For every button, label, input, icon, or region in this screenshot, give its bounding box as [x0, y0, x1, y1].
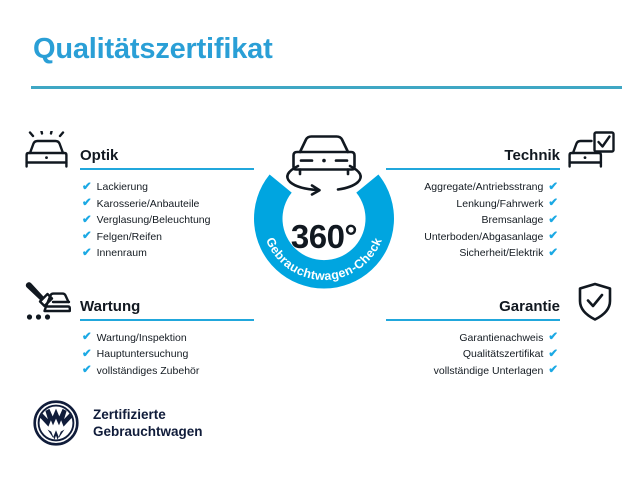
- list-item-label: Hauptuntersuchung: [97, 346, 189, 363]
- left-column: Optik ✔Lackierung ✔Karosserie/Anbauteile…: [24, 132, 254, 379]
- list-item-label: Felgen/Reifen: [97, 229, 162, 246]
- section-optik: Optik ✔Lackierung ✔Karosserie/Anbauteile…: [24, 132, 254, 262]
- badge-ring: Gebrauchtwagen-Check: [238, 122, 410, 308]
- list-item: ✔Hauptuntersuchung: [82, 346, 254, 363]
- footer-line-2: Gebrauchtwagen: [93, 423, 203, 440]
- list-item-label: Sicherheit/Elektrik: [459, 245, 543, 262]
- check-icon: ✔: [548, 182, 558, 194]
- list-item: Unterboden/Abgasanlage✔: [386, 229, 558, 246]
- section-underline-wartung: [80, 319, 254, 321]
- list-item: ✔Innenraum: [82, 245, 254, 262]
- car-rotate-360-icon: [287, 137, 360, 195]
- checklist-optik: ✔Lackierung ✔Karosserie/Anbauteile ✔Verg…: [24, 179, 254, 262]
- check-icon: ✔: [82, 198, 92, 210]
- check-icon: ✔: [548, 198, 558, 210]
- list-item: ✔Felgen/Reifen: [82, 229, 254, 246]
- list-item-label: Verglasung/Beleuchtung: [97, 212, 211, 229]
- check-icon: ✔: [82, 349, 92, 361]
- section-wartung: Wartung ✔Wartung/Inspektion ✔Hauptunters…: [24, 283, 254, 380]
- list-item-label: Karosserie/Anbauteile: [97, 196, 200, 213]
- list-item: Sicherheit/Elektrik✔: [386, 245, 558, 262]
- footer-brand-text: Zertifizierte Gebrauchtwagen: [93, 406, 203, 440]
- list-item-label: Bremsanlage: [481, 212, 543, 229]
- checklist-wartung: ✔Wartung/Inspektion ✔Hauptuntersuchung ✔…: [24, 330, 254, 380]
- list-item: Lenkung/Fahrwerk✔: [386, 196, 558, 213]
- right-column: Technik Aggregate/Antriebsstrang✔ Lenkun…: [386, 132, 616, 379]
- section-underline-garantie: [386, 319, 560, 321]
- list-item-label: Lackierung: [97, 179, 148, 196]
- section-title-technik: Technik: [504, 147, 560, 164]
- check-icon: ✔: [548, 248, 558, 260]
- check-icon: ✔: [548, 231, 558, 243]
- list-item: Aggregate/Antriebsstrang✔: [386, 179, 558, 196]
- badge-center-label: 360°: [238, 218, 410, 256]
- check-icon: ✔: [82, 231, 92, 243]
- page-title: Qualitätszertifikat: [33, 33, 273, 66]
- list-item: ✔Wartung/Inspektion: [82, 330, 254, 347]
- section-technik: Technik Aggregate/Antriebsstrang✔ Lenkun…: [386, 132, 616, 262]
- list-item-label: Innenraum: [97, 245, 147, 262]
- badge-360-gebrauchtwagen-check: Gebrauchtwagen-Check 360°: [238, 122, 410, 308]
- section-underline-optik: [80, 168, 254, 170]
- list-item: ✔Lackierung: [82, 179, 254, 196]
- check-icon: ✔: [82, 332, 92, 344]
- check-icon: ✔: [82, 365, 92, 377]
- title-divider: [31, 86, 622, 89]
- list-item-label: Garantienachweis: [459, 330, 543, 347]
- list-item-label: Lenkung/Fahrwerk: [456, 196, 543, 213]
- check-icon: ✔: [548, 365, 558, 377]
- section-title-garantie: Garantie: [499, 298, 560, 315]
- list-item: Garantienachweis✔: [386, 330, 558, 347]
- list-item: Bremsanlage✔: [386, 212, 558, 229]
- list-item-label: Qualitätszertifikat: [463, 346, 544, 363]
- list-item-label: Wartung/Inspektion: [97, 330, 187, 347]
- list-item: ✔Verglasung/Beleuchtung: [82, 212, 254, 229]
- section-underline-technik: [386, 168, 560, 170]
- list-item-label: Aggregate/Antriebsstrang: [424, 179, 543, 196]
- list-item: Qualitätszertifikat✔: [386, 346, 558, 363]
- list-item: ✔vollständiges Zubehör: [82, 363, 254, 380]
- list-item-label: Unterboden/Abgasanlage: [424, 229, 543, 246]
- list-item: ✔Karosserie/Anbauteile: [82, 196, 254, 213]
- section-garantie: Garantie Garantienachweis✔ Qualitätszert…: [386, 283, 616, 380]
- check-icon: ✔: [82, 215, 92, 227]
- footer-line-1: Zertifizierte: [93, 406, 203, 423]
- check-icon: ✔: [82, 182, 92, 194]
- list-item-label: vollständige Unterlagen: [434, 363, 544, 380]
- certificate-page: Qualitätszertifikat Optik: [0, 0, 640, 480]
- checklist-garantie: Garantienachweis✔ Qualitätszertifikat✔ v…: [386, 330, 616, 380]
- checklist-technik: Aggregate/Antriebsstrang✔ Lenkung/Fahrwe…: [386, 179, 616, 262]
- list-item-label: vollständiges Zubehör: [97, 363, 200, 380]
- list-item: vollständige Unterlagen✔: [386, 363, 558, 380]
- section-title-wartung: Wartung: [80, 298, 140, 315]
- check-icon: ✔: [82, 248, 92, 260]
- check-icon: ✔: [548, 349, 558, 361]
- section-title-optik: Optik: [80, 147, 118, 164]
- check-icon: ✔: [548, 332, 558, 344]
- check-icon: ✔: [548, 215, 558, 227]
- vw-logo-icon: [33, 400, 79, 446]
- footer-brand: Zertifizierte Gebrauchtwagen: [33, 400, 203, 446]
